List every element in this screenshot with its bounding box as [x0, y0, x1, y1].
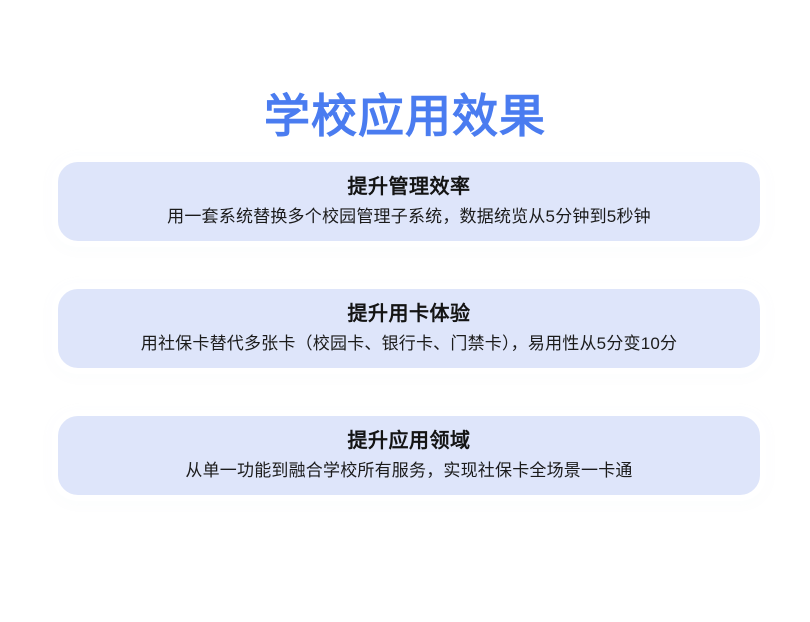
- effect-card-description: 用社保卡替代多张卡（校园卡、银行卡、门禁卡），易用性从5分变10分: [141, 332, 677, 356]
- effect-card: 提升应用领域 从单一功能到融合学校所有服务，实现社保卡全场景一卡通: [52, 410, 766, 501]
- effect-card: 提升用卡体验 用社保卡替代多张卡（校园卡、银行卡、门禁卡），易用性从5分变10分: [52, 283, 766, 374]
- effect-card: 提升管理效率 用一套系统替换多个校园管理子系统，数据统览从5分钟到5秒钟: [52, 156, 766, 247]
- effect-card-description: 从单一功能到融合学校所有服务，实现社保卡全场景一卡通: [185, 459, 632, 483]
- effect-card-title: 提升管理效率: [348, 174, 471, 200]
- effect-card-description: 用一套系统替换多个校园管理子系统，数据统览从5分钟到5秒钟: [167, 205, 651, 229]
- effect-card-list: 提升管理效率 用一套系统替换多个校园管理子系统，数据统览从5分钟到5秒钟 提升用…: [52, 156, 766, 501]
- school-application-effect-page: 学校应用效果 提升管理效率 用一套系统替换多个校园管理子系统，数据统览从5分钟到…: [0, 0, 810, 622]
- page-title: 学校应用效果: [0, 88, 810, 144]
- effect-card-title: 提升应用领域: [348, 428, 471, 454]
- effect-card-title: 提升用卡体验: [348, 301, 471, 327]
